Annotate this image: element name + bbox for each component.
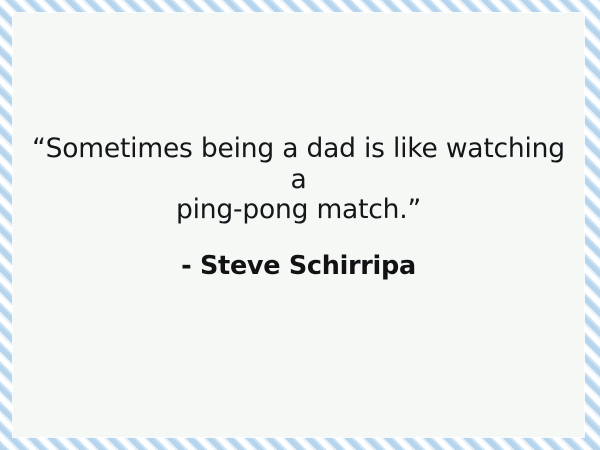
quote-text: “Sometimes being a dad is like watching … (23, 134, 574, 226)
quote-card: “Sometimes being a dad is like watching … (0, 0, 600, 450)
card-inner-canvas: “Sometimes being a dad is like watching … (13, 13, 584, 437)
quote-block: “Sometimes being a dad is like watching … (13, 134, 584, 282)
quote-attribution: - Steve Schirripa (23, 226, 574, 282)
